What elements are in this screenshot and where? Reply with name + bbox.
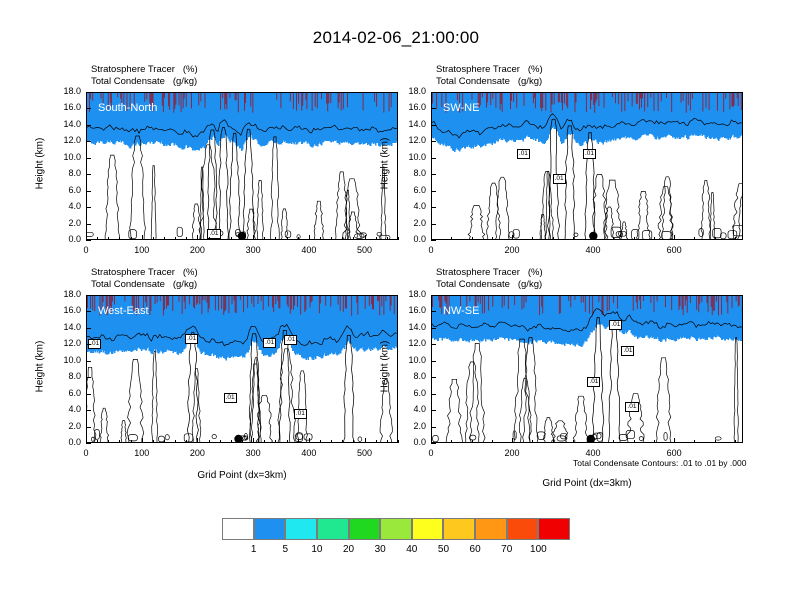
y-tick-label: 6.0 <box>391 388 426 398</box>
y-tick-mark <box>431 377 436 378</box>
x-minor-tick <box>674 440 675 443</box>
y-tick-mark <box>431 344 436 345</box>
x-minor-tick <box>472 440 473 443</box>
x-minor-tick <box>715 440 716 443</box>
colorbar-label: 100 <box>518 544 558 555</box>
x-minor-tick <box>492 440 493 443</box>
colorbar-cell <box>380 518 412 540</box>
y-tick-label: 18.0 <box>391 289 426 299</box>
y-tick-mark <box>431 410 436 411</box>
contour-note: Total Condensate Contours: .01 to .01 by… <box>573 458 746 468</box>
x-tick-label: 200 <box>492 448 532 458</box>
x-minor-tick <box>573 440 574 443</box>
x-minor-tick <box>532 440 533 443</box>
plot-area-nw-se <box>431 295 743 443</box>
x-minor-tick <box>593 440 594 443</box>
y-tick-label: 14.0 <box>391 322 426 332</box>
y-tick-mark <box>431 311 436 312</box>
y-axis-label: Height (km) <box>380 317 391 417</box>
colorbar-cell <box>475 518 507 540</box>
y-tick-mark <box>431 328 436 329</box>
x-minor-tick <box>735 440 736 443</box>
colorbar-cell <box>538 518 570 540</box>
colorbar-cell <box>412 518 444 540</box>
contour-label: .01 <box>609 320 622 330</box>
y-tick-mark <box>431 394 436 395</box>
x-minor-tick <box>553 440 554 443</box>
y-tick-label: 2.0 <box>391 421 426 431</box>
y-tick-mark <box>431 427 436 428</box>
x-minor-tick <box>512 440 513 443</box>
x-minor-tick <box>613 440 614 443</box>
x-tick-label: 400 <box>573 448 613 458</box>
header-tracer: Stratosphere Tracer (%) <box>436 267 543 279</box>
contour-label: .01 <box>621 346 634 356</box>
x-axis-label: Grid Point (dx=3km) <box>507 478 667 489</box>
colorbar-cell <box>349 518 381 540</box>
x-minor-tick <box>451 440 452 443</box>
y-tick-label: 16.0 <box>391 305 426 315</box>
y-tick-label: 4.0 <box>391 404 426 414</box>
y-tick-label: 0.0 <box>391 437 426 447</box>
colorbar-cell <box>222 518 254 540</box>
x-tick-label: 600 <box>654 448 694 458</box>
x-minor-tick <box>634 440 635 443</box>
y-tick-label: 10.0 <box>391 355 426 365</box>
x-axis-label: Grid Point (dx=3km) <box>162 470 322 481</box>
x-minor-tick <box>654 440 655 443</box>
panel-header-nw-se: Stratosphere Tracer (%)Total Condensate … <box>436 267 543 290</box>
colorbar-cell <box>443 518 475 540</box>
x-minor-tick <box>431 440 432 443</box>
colorbar-cell <box>254 518 286 540</box>
colorbar-cell <box>317 518 349 540</box>
y-tick-mark <box>431 443 436 444</box>
y-tick-label: 8.0 <box>391 371 426 381</box>
contour-label: .01 <box>587 377 600 387</box>
colorbar-cell <box>507 518 539 540</box>
y-tick-mark <box>431 361 436 362</box>
y-tick-mark <box>431 295 436 296</box>
header-condensate: Total Condensate (g/kg) <box>436 279 543 291</box>
x-minor-tick <box>694 440 695 443</box>
x-tick-label: 0 <box>411 448 451 458</box>
y-tick-label: 12.0 <box>391 338 426 348</box>
figure-canvas: 2014-02-06_21:00:00 Stratosphere Tracer … <box>0 0 792 612</box>
colorbar <box>222 518 570 540</box>
colorbar-cell <box>285 518 317 540</box>
contour-label: .01 <box>625 402 638 412</box>
